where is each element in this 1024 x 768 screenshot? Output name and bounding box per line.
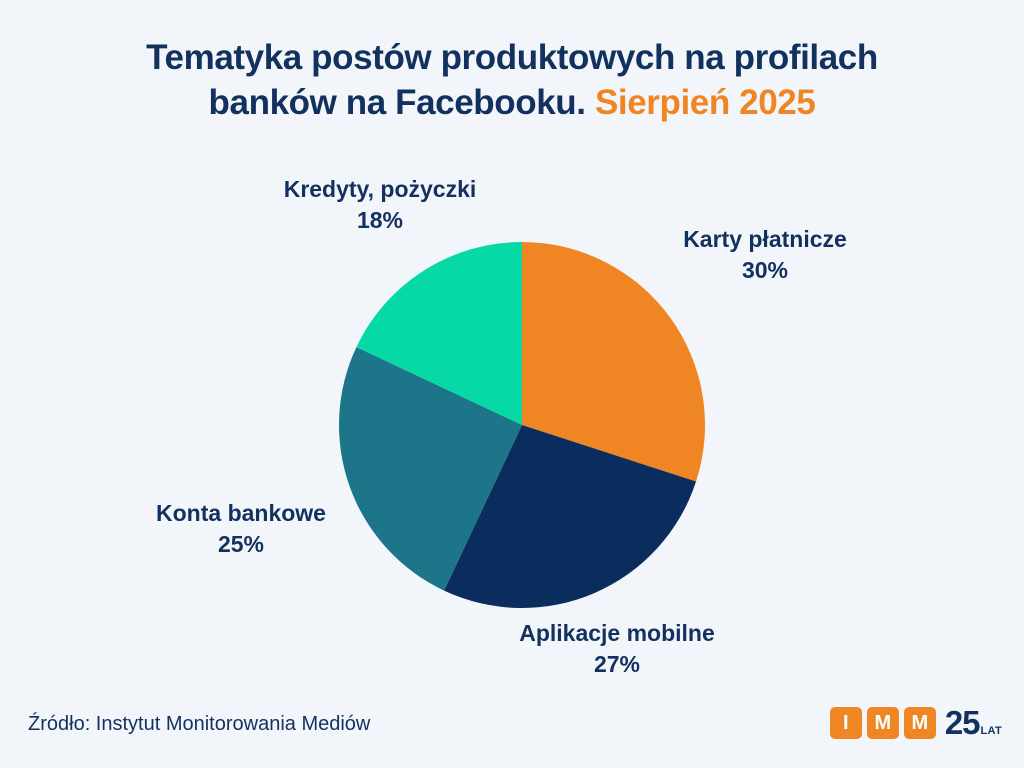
pie-chart: Kredyty, pożyczki 18% Karty płatnicze 30… xyxy=(0,0,1024,768)
slice-label-karty-platnicze: Karty płatnicze 30% xyxy=(622,224,908,287)
imm-logo: I M M 25 LAT xyxy=(830,700,1002,746)
slice-label-konta-bankowe: Konta bankowe 25% xyxy=(96,498,386,561)
slice-label-value: 30% xyxy=(622,255,908,286)
logo-tile-m2: M xyxy=(904,707,936,739)
source-note: Źródło: Instytut Monitorowania Mediów xyxy=(28,713,370,736)
slice-label-kredyty-pozyczki: Kredyty, pożyczki 18% xyxy=(238,174,522,237)
slice-label-value: 27% xyxy=(452,649,782,680)
logo-tile-m1: M xyxy=(867,707,899,739)
logo-anniversary: 25 LAT xyxy=(945,707,1002,738)
logo-years-number: 25 xyxy=(945,707,980,738)
slice-label-name: Aplikacje mobilne xyxy=(452,618,782,649)
logo-years-unit: LAT xyxy=(981,725,1002,737)
pie-chart-svg xyxy=(339,242,705,608)
slice-label-name: Kredyty, pożyczki xyxy=(238,174,522,205)
logo-tile-i: I xyxy=(830,707,862,739)
slice-label-aplikacje-mobilne: Aplikacje mobilne 27% xyxy=(452,618,782,681)
slice-label-value: 18% xyxy=(238,205,522,236)
slice-label-value: 25% xyxy=(96,529,386,560)
slice-label-name: Karty płatnicze xyxy=(622,224,908,255)
slice-label-name: Konta bankowe xyxy=(96,498,386,529)
